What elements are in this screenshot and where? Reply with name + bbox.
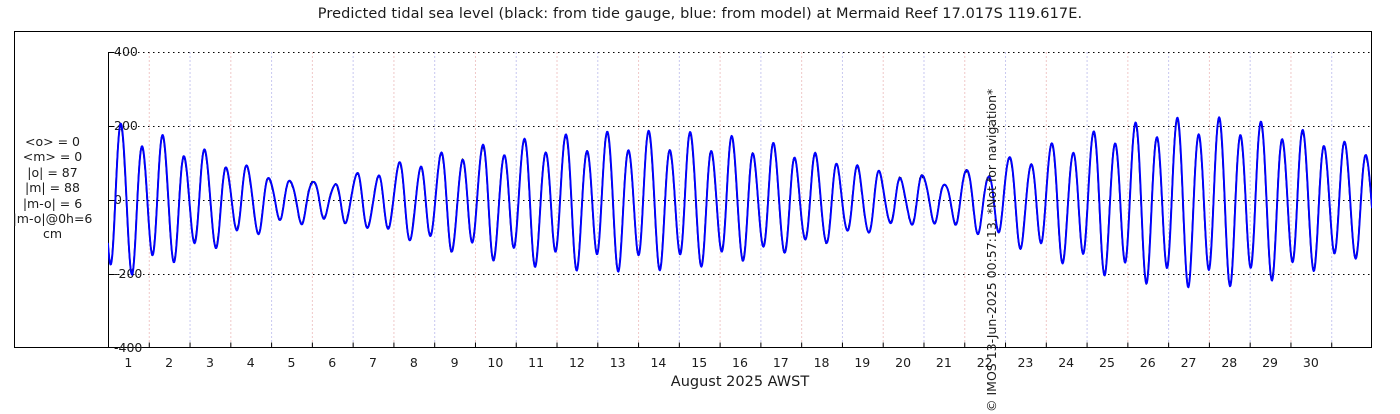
- x-tick-label: 9: [440, 355, 470, 370]
- x-tick-label: 16: [725, 355, 755, 370]
- model-tide-line: [108, 117, 1372, 287]
- x-tick-label: 3: [195, 355, 225, 370]
- x-tick-label: 1: [113, 355, 143, 370]
- copyright-notice: © IMOS 13-Jun-2025 00:57:13. *Not for na…: [984, 14, 1006, 414]
- statistics-line: <m> = 0: [0, 149, 105, 164]
- x-tick-label: 26: [1133, 355, 1163, 370]
- x-tick-label: 18: [807, 355, 837, 370]
- chart-title: Predicted tidal sea level (black: from t…: [0, 6, 1400, 22]
- x-tick-label: 5: [276, 355, 306, 370]
- x-tick-label: 19: [847, 355, 877, 370]
- x-tick-label: 11: [521, 355, 551, 370]
- x-tick-label: 12: [562, 355, 592, 370]
- x-tick-label: 2: [154, 355, 184, 370]
- x-tick-label: 30: [1296, 355, 1326, 370]
- statistics-line: <o> = 0: [0, 134, 105, 149]
- x-tick-label: 20: [888, 355, 918, 370]
- x-tick-label: 6: [317, 355, 347, 370]
- statistics-line: |m-o| = 6: [0, 196, 105, 211]
- x-tick-label: 24: [1051, 355, 1081, 370]
- statistics-block: <o> = 0<m> = 0|o| = 87|m| = 88|m-o| = 6|…: [0, 134, 105, 242]
- plot-area: [108, 52, 1372, 348]
- x-tick-label: 21: [929, 355, 959, 370]
- x-tick-label: 8: [399, 355, 429, 370]
- x-tick-label: 25: [1092, 355, 1122, 370]
- tide-series-svg: [108, 52, 1372, 348]
- statistics-line: |m| = 88: [0, 180, 105, 195]
- x-tick-label: 29: [1255, 355, 1285, 370]
- x-tick-label: 13: [603, 355, 633, 370]
- x-tick-label: 14: [643, 355, 673, 370]
- x-tick-label: 28: [1214, 355, 1244, 370]
- x-tick-label: 27: [1174, 355, 1204, 370]
- statistics-line: cm: [0, 226, 105, 241]
- x-tick-label: 17: [766, 355, 796, 370]
- statistics-line: |o| = 87: [0, 165, 105, 180]
- x-tick-label: 4: [236, 355, 266, 370]
- x-tick-label: 23: [1010, 355, 1040, 370]
- x-tick-label: 7: [358, 355, 388, 370]
- statistics-line: |m-o|@0h=6: [0, 211, 105, 226]
- tidal-chart-page: Predicted tidal sea level (black: from t…: [0, 0, 1400, 400]
- x-axis-title: August 2025 AWST: [108, 374, 1372, 390]
- x-tick-label: 10: [480, 355, 510, 370]
- x-tick-label: 15: [684, 355, 714, 370]
